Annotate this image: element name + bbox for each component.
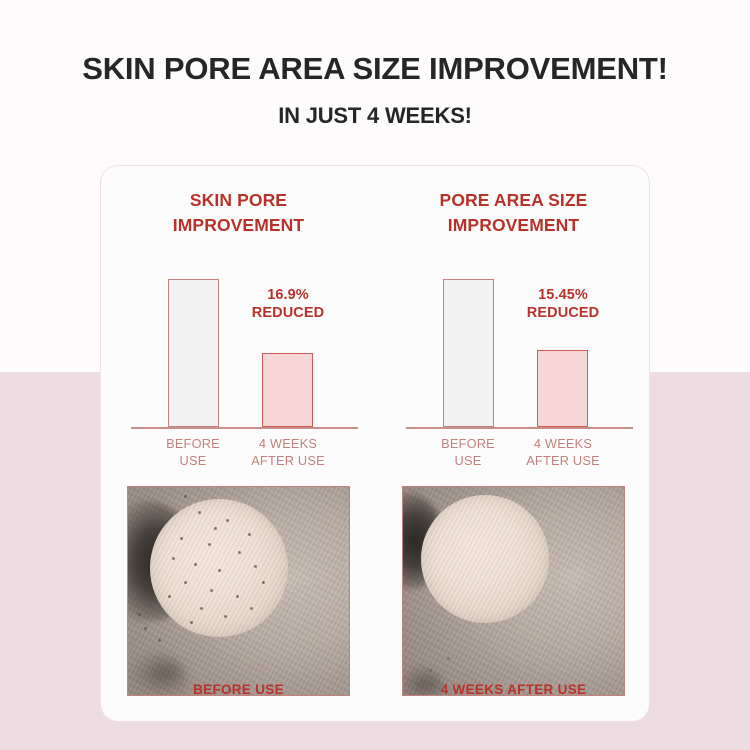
x-label-before-line1: BEFORE: [441, 436, 495, 451]
reduction-word: REDUCED: [252, 305, 324, 321]
x-label-before-line1: BEFORE: [166, 436, 220, 451]
caption-before-use: BEFORE USE: [101, 682, 376, 697]
caption-after-use: 4 WEEKS AFTER USE: [376, 682, 651, 697]
x-label-after-line2: AFTER USE: [251, 453, 325, 468]
bar-after-use: [537, 350, 588, 427]
skin-photo-image: [403, 487, 624, 695]
chart-baseline-axis: [406, 427, 633, 429]
x-label-after-line1: 4 WEEKS: [259, 436, 317, 451]
reduction-percent: 16.9%: [267, 287, 309, 303]
skin-photo-image: [128, 487, 349, 695]
page-subtitle: IN JUST 4 WEEKS!: [0, 104, 750, 128]
skin-photo-after: [402, 486, 625, 696]
x-label-after-use: 4 WEEKS AFTER USE: [507, 435, 619, 470]
bar-after-use: [262, 353, 313, 427]
panel-title-line2: IMPROVEMENT: [448, 215, 579, 235]
reduction-label: 15.45% REDUCED: [507, 286, 619, 322]
pore-spots-group: [150, 499, 288, 637]
panel-title: SKIN PORE IMPROVEMENT: [101, 188, 376, 238]
bar-chart-skin-pore: 16.9% REDUCED: [101, 254, 376, 429]
skin-photo-before: [127, 486, 350, 696]
panels-row: SKIN PORE IMPROVEMENT 16.9% REDUCED BEFO…: [101, 166, 651, 696]
bar-before-use: [168, 279, 219, 427]
panel-title-line1: SKIN PORE: [190, 190, 287, 210]
caption-row: BEFORE USE 4 WEEKS AFTER USE: [101, 682, 651, 697]
panel-title: PORE AREA SIZE IMPROVEMENT: [376, 188, 651, 238]
panel-title-line2: IMPROVEMENT: [173, 215, 304, 235]
reduction-percent: 15.45%: [538, 287, 588, 303]
panel-pore-area-size-improvement: PORE AREA SIZE IMPROVEMENT 15.45% REDUCE…: [376, 166, 651, 696]
x-axis-labels: BEFORE USE 4 WEEKS AFTER USE: [376, 435, 651, 477]
measurement-circle: [150, 499, 288, 637]
results-card: SKIN PORE IMPROVEMENT 16.9% REDUCED BEFO…: [100, 165, 650, 722]
bar-chart-pore-area-size: 15.45% REDUCED: [376, 254, 651, 429]
measurement-circle: [421, 495, 549, 623]
chart-baseline-axis: [131, 427, 358, 429]
x-label-after-line1: 4 WEEKS: [534, 436, 592, 451]
x-axis-labels: BEFORE USE 4 WEEKS AFTER USE: [101, 435, 376, 477]
reduction-label: 16.9% REDUCED: [232, 286, 344, 322]
page-title: SKIN PORE AREA SIZE IMPROVEMENT!: [0, 52, 750, 86]
x-label-after-line2: AFTER USE: [526, 453, 600, 468]
bar-before-use: [443, 279, 494, 427]
panel-skin-pore-improvement: SKIN PORE IMPROVEMENT 16.9% REDUCED BEFO…: [101, 166, 376, 696]
reduction-word: REDUCED: [527, 305, 599, 321]
heading-block: SKIN PORE AREA SIZE IMPROVEMENT! IN JUST…: [0, 52, 750, 128]
x-label-before-line2: USE: [180, 453, 207, 468]
panel-title-line1: PORE AREA SIZE: [440, 190, 588, 210]
x-label-after-use: 4 WEEKS AFTER USE: [232, 435, 344, 470]
x-label-before-line2: USE: [455, 453, 482, 468]
